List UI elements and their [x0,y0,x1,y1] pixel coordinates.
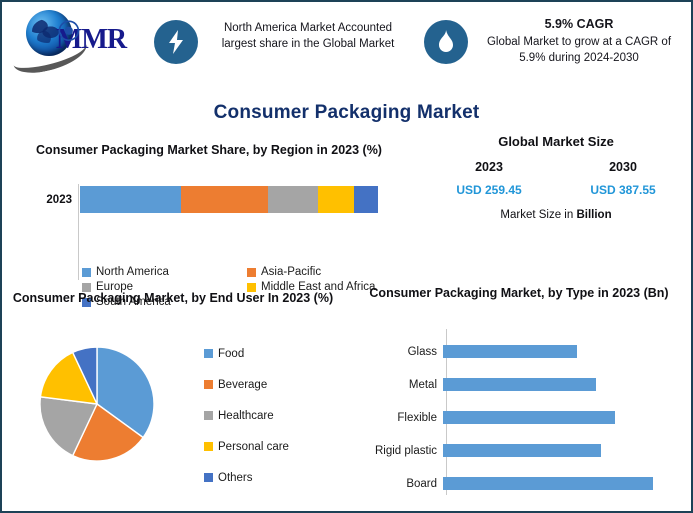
market-size-unit-note: Market Size in Billion [422,209,690,221]
page-title: Consumer Packaging Market [2,102,691,124]
header-band: ⦿ MMR North America Market Accounted lar… [2,2,691,90]
legend-label: Personal care [218,441,289,453]
legend-swatch [204,349,213,358]
cagr-headline: 5.9% CAGR [476,16,682,32]
stack-segment [80,186,181,213]
type-bar [443,444,601,457]
infographic-frame: ⦿ MMR North America Market Accounted lar… [0,0,693,513]
type-bar-label: Metal [354,379,442,391]
region-share-plot: 2023 North AmericaAsia-PacificEuropeMidd… [8,184,410,230]
stacked-bar [80,186,378,213]
value-2030: USD 387.55 [556,183,690,197]
highlight-1-text: North America Market Accounted largest s… [208,20,408,52]
unit-note-bold: Billion [576,209,611,221]
legend-label: Healthcare [218,410,274,422]
mmr-logo: ⦿ MMR [10,8,136,70]
market-size-values: USD 259.45 USD 387.55 [422,183,690,197]
pie-plot [38,345,156,463]
type-title: Consumer Packaging Market, by Type in 20… [354,285,684,302]
year-2023: 2023 [422,160,556,174]
category-label-2023: 2023 [22,194,72,206]
stack-segment [268,186,319,213]
market-size-years: 2023 2030 [422,160,690,174]
flame-icon [424,20,468,64]
type-bar [443,345,577,358]
global-market-size: Global Market Size 2023 2030 USD 259.45 … [422,134,690,221]
highlight-2: 5.9% CAGR Global Market to grow at a CAG… [476,16,682,66]
pie-svg [38,345,156,463]
legend-label: Beverage [218,379,267,391]
legend-swatch [204,442,213,451]
type-bar-label: Rigid plastic [354,445,442,457]
legend-swatch [247,268,256,277]
type-bar-row: Glass [354,335,684,368]
type-bar [443,477,653,490]
type-bar-row: Board [354,467,684,500]
type-bar-row: Rigid plastic [354,434,684,467]
type-bar-label: Glass [354,346,442,358]
end-user-title: Consumer Packaging Market, by End User I… [8,290,338,307]
type-chart: Consumer Packaging Market, by Type in 20… [354,285,690,510]
legend-swatch [204,473,213,482]
type-bar-label: Board [354,478,442,490]
highlight-2-text: Global Market to grow at a CAGR of 5.9% … [487,36,671,64]
value-axis-line [78,184,79,280]
end-user-chart: Consumer Packaging Market, by End User I… [8,290,348,510]
value-2023: USD 259.45 [422,183,556,197]
legend-item: Beverage [204,369,289,400]
region-share-title: Consumer Packaging Market Share, by Regi… [8,142,410,159]
legend-swatch [204,380,213,389]
legend-item: North America [82,266,247,278]
stack-segment [354,186,378,213]
unit-note-prefix: Market Size in [500,209,576,221]
type-bar [443,378,596,391]
legend-label: North America [96,266,169,278]
legend-item: Food [204,338,289,369]
stack-segment [181,186,267,213]
stack-segment [318,186,354,213]
type-bar-label: Flexible [354,412,442,424]
legend-label: Asia-Pacific [261,266,321,278]
region-share-chart: Consumer Packaging Market Share, by Regi… [8,142,420,282]
year-2030: 2030 [556,160,690,174]
type-bar-row: Flexible [354,401,684,434]
type-bar-row: Metal [354,368,684,401]
legend-label: Others [218,472,253,484]
legend-item: Asia-Pacific [247,266,412,278]
type-plot: GlassMetalFlexibleRigid plasticBoard [354,329,684,499]
global-market-size-title: Global Market Size [422,134,690,149]
legend-item: Others [204,462,289,493]
legend-item: Healthcare [204,400,289,431]
legend-swatch [82,268,91,277]
legend-item: Personal care [204,431,289,462]
lightning-bolt-icon [154,20,198,64]
legend-label: Food [218,348,244,360]
type-bar [443,411,615,424]
end-user-legend: FoodBeverageHealthcarePersonal careOther… [204,338,289,493]
logo-text: ⦿ MMR [56,24,126,56]
legend-swatch [204,411,213,420]
